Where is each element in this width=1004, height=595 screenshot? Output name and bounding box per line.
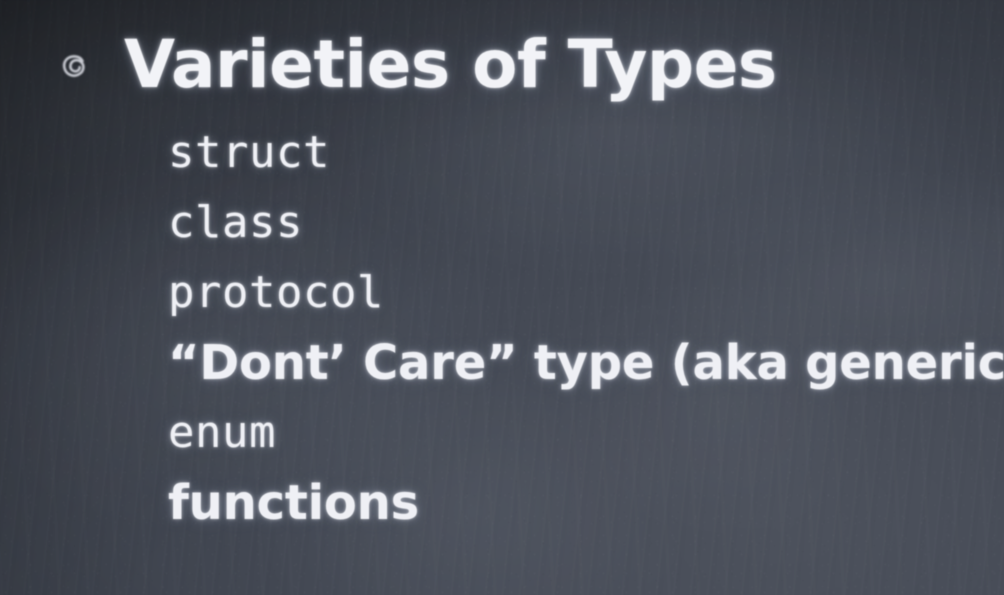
list-item: class	[168, 188, 968, 258]
types-list: struct class protocol “Dont’ Care” type …	[168, 118, 968, 538]
list-item: enum	[168, 398, 968, 468]
page-title: Varieties of Types	[124, 26, 777, 103]
presentation-slide: Varieties of Types struct class protocol…	[0, 0, 1004, 595]
spiral-swirl-icon	[56, 48, 94, 86]
list-item: protocol	[168, 258, 968, 328]
list-item: functions	[168, 468, 968, 538]
list-item: “Dont’ Care” type (aka generics)	[168, 328, 968, 398]
slide-content: Varieties of Types struct class protocol…	[0, 0, 1004, 595]
list-item: struct	[168, 118, 968, 188]
